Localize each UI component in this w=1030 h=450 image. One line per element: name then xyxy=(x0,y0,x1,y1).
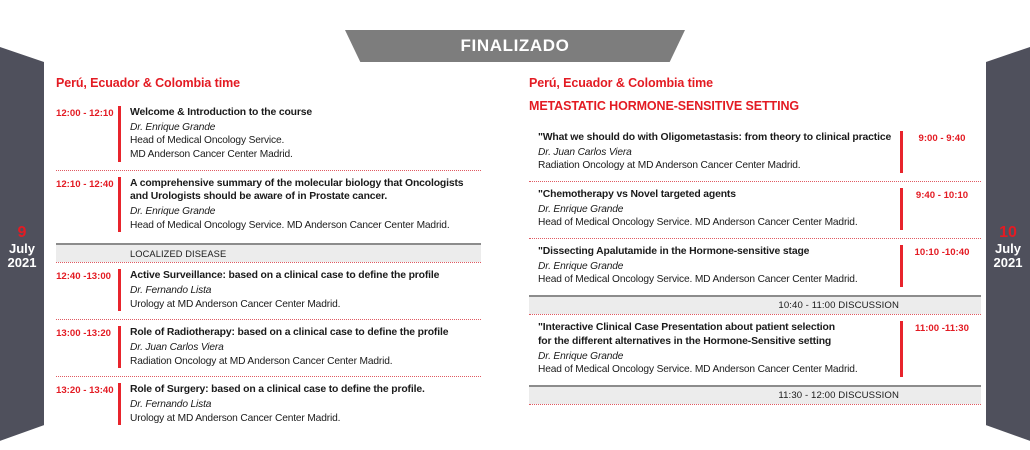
session-time: 11:00 -11:30 xyxy=(903,321,981,377)
day-number-right: 10 xyxy=(986,224,1030,242)
session-speaker: Dr. Enrique Grande xyxy=(538,260,900,274)
session-title: for the different alternatives in the Ho… xyxy=(538,335,900,349)
session-affiliation: Head of Medical Oncology Service. xyxy=(130,134,481,148)
session-affiliation: MD Anderson Cancer Center Madrid. xyxy=(130,148,481,162)
session-content: "Chemotherapy vs Novel targeted agents D… xyxy=(529,188,900,230)
session-time: 13:00 -13:20 xyxy=(56,326,118,368)
session-speaker: Dr. Enrique Grande xyxy=(130,205,481,219)
session-title: Welcome & Introduction to the course xyxy=(130,106,481,120)
day-year-right: 2021 xyxy=(986,256,1030,271)
agenda-row: "What we should do with Oligometastasis:… xyxy=(529,124,981,181)
session-speaker: Dr. Juan Carlos Viera xyxy=(130,341,481,355)
session-time: 12:00 - 12:10 xyxy=(56,106,118,162)
session-content: Welcome & Introduction to the course Dr.… xyxy=(130,106,481,162)
day-month-left: July xyxy=(0,242,44,257)
session-time: 12:10 - 12:40 xyxy=(56,177,118,233)
session-content: "Interactive Clinical Case Presentation … xyxy=(529,321,900,377)
day-number-left: 9 xyxy=(0,224,44,242)
row-rule xyxy=(118,106,121,162)
day-marker-left-text: 9 July 2021 xyxy=(0,224,44,271)
session-content: Active Surveillance: based on a clinical… xyxy=(130,269,481,311)
session-speaker: Dr. Juan Carlos Viera xyxy=(538,146,900,160)
timezone-title-left: Perú, Ecuador & Colombia time xyxy=(56,76,481,90)
row-rule xyxy=(118,177,121,233)
session-title: "What we should do with Oligometastasis:… xyxy=(538,131,900,145)
session-title: Role of Radiotherapy: based on a clinica… xyxy=(130,326,481,340)
agenda-row: 13:20 - 13:40 Role of Surgery: based on … xyxy=(56,376,481,433)
day-month-right: July xyxy=(986,242,1030,257)
day-marker-right: 10 July 2021 xyxy=(986,30,1030,445)
section-title-metastatic: METASTATIC HORMONE-SENSITIVE SETTING xyxy=(529,99,981,113)
agenda-column-day9: Perú, Ecuador & Colombia time 12:00 - 12… xyxy=(56,76,481,433)
discussion-band: 10:40 - 11:00 DISCUSSION xyxy=(529,295,981,314)
session-content: Role of Surgery: based on a clinical cas… xyxy=(130,383,481,425)
discussion-band: 11:30 - 12:00 DISCUSSION xyxy=(529,385,981,404)
agenda-column-day10: Perú, Ecuador & Colombia time METASTATIC… xyxy=(529,76,981,404)
session-content: Role of Radiotherapy: based on a clinica… xyxy=(130,326,481,368)
session-affiliation: Urology at MD Anderson Cancer Center Mad… xyxy=(130,412,481,426)
session-affiliation: Urology at MD Anderson Cancer Center Mad… xyxy=(130,298,481,312)
session-affiliation: Radiation Oncology at MD Anderson Cancer… xyxy=(130,355,481,369)
row-rule xyxy=(118,269,121,311)
row-rule xyxy=(118,326,121,368)
session-speaker: Dr. Enrique Grande xyxy=(538,350,900,364)
session-time: 9:40 - 10:10 xyxy=(903,188,981,230)
session-speaker: Dr. Fernando Lista xyxy=(130,398,481,412)
session-affiliation: Head of Medical Oncology Service. MD And… xyxy=(538,273,900,287)
session-affiliation: Head of Medical Oncology Service. MD And… xyxy=(130,219,481,233)
agenda-row: 13:00 -13:20 Role of Radiotherapy: based… xyxy=(56,319,481,376)
agenda-row: "Dissecting Apalutamide in the Hormone-s… xyxy=(529,238,981,295)
agenda-row: 12:40 -13:00 Active Surveillance: based … xyxy=(56,262,481,319)
agenda-poster: 9 July 2021 10 July 2021 FINALIZADO Perú… xyxy=(0,0,1030,450)
session-title: "Dissecting Apalutamide in the Hormone-s… xyxy=(538,245,900,259)
session-affiliation: Head of Medical Oncology Service. MD And… xyxy=(538,363,900,377)
session-affiliation: Head of Medical Oncology Service. MD And… xyxy=(538,216,900,230)
session-time: 13:20 - 13:40 xyxy=(56,383,118,425)
session-title: Role of Surgery: based on a clinical cas… xyxy=(130,383,481,397)
session-speaker: Dr. Enrique Grande xyxy=(538,203,900,217)
category-band-localized-disease: LOCALIZED DISEASE xyxy=(56,243,481,262)
session-time: 9:00 - 9:40 xyxy=(903,131,981,173)
discussion-band-label: 10:40 - 11:00 DISCUSSION xyxy=(778,300,899,311)
day-year-left: 2021 xyxy=(0,256,44,271)
row-rule xyxy=(118,383,121,425)
session-title: A comprehensive summary of the molecular… xyxy=(130,177,481,191)
day-marker-left: 9 July 2021 xyxy=(0,30,44,445)
session-title: Active Surveillance: based on a clinical… xyxy=(130,269,481,283)
session-time: 10:10 -10:40 xyxy=(903,245,981,287)
session-time: 12:40 -13:00 xyxy=(56,269,118,311)
category-band-label: LOCALIZED DISEASE xyxy=(130,249,226,259)
discussion-band-label: 11:30 - 12:00 DISCUSSION xyxy=(778,390,899,401)
agenda-row: 12:00 - 12:10 Welcome & Introduction to … xyxy=(56,99,481,170)
session-title: "Chemotherapy vs Novel targeted agents xyxy=(538,188,900,202)
status-badge: FINALIZADO xyxy=(461,36,570,56)
timezone-title-right: Perú, Ecuador & Colombia time xyxy=(529,76,981,90)
session-title: and Urologists should be aware of in Pro… xyxy=(130,190,481,204)
session-content: A comprehensive summary of the molecular… xyxy=(130,177,481,233)
session-speaker: Dr. Enrique Grande xyxy=(130,121,481,135)
status-banner: FINALIZADO xyxy=(345,30,685,62)
session-speaker: Dr. Fernando Lista xyxy=(130,284,481,298)
session-affiliation: Radiation Oncology at MD Anderson Cancer… xyxy=(538,159,900,173)
agenda-row: 12:10 - 12:40 A comprehensive summary of… xyxy=(56,170,481,241)
session-title: "Interactive Clinical Case Presentation … xyxy=(538,321,900,335)
agenda-row: "Chemotherapy vs Novel targeted agents D… xyxy=(529,181,981,238)
session-content: "Dissecting Apalutamide in the Hormone-s… xyxy=(529,245,900,287)
day-marker-right-text: 10 July 2021 xyxy=(986,224,1030,271)
agenda-row: "Interactive Clinical Case Presentation … xyxy=(529,314,981,385)
session-content: "What we should do with Oligometastasis:… xyxy=(529,131,900,173)
